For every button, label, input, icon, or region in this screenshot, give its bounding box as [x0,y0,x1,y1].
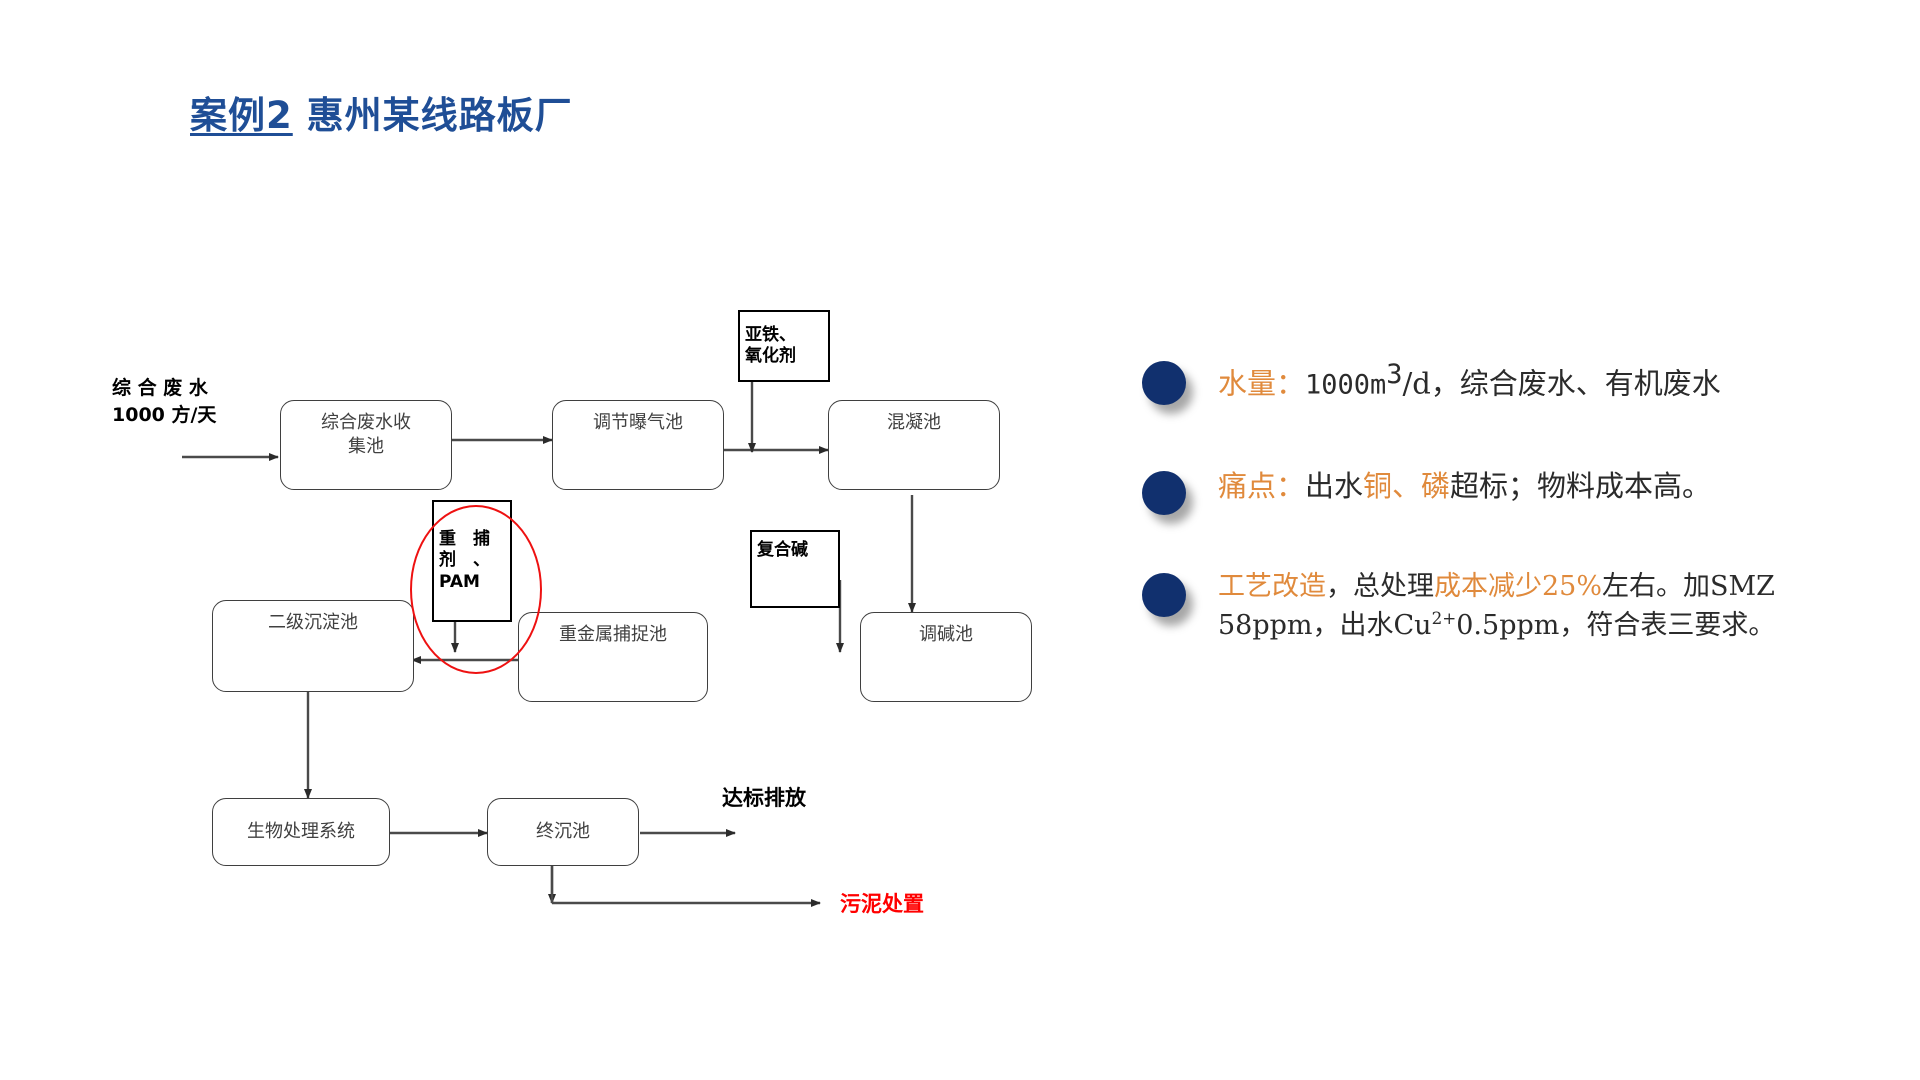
bullet-3-seg-0: 工艺改造 [1218,571,1326,602]
bullet-dot-icon [1142,573,1186,617]
bullet-1-seg-0: 水量： [1218,367,1305,401]
bullet-dot-icon [1142,471,1186,515]
bullet-1-seg-1: 1000m [1305,370,1386,401]
bullet-water-volume: 水量：1000m3/d，综合废水、有机废水 [1130,355,1890,405]
bullet-pain-point: 痛点：出水铜、磷超标；物料成本高。 [1130,465,1890,507]
bullet-process-upgrade-text: 工艺改造，总处理成本减少25%左右。加SMZ 58ppm，出水Cu2+0.5pp… [1218,567,1890,645]
bullet-1-seg-2: 3 [1386,359,1402,390]
chem-box-compound-alkali[interactable]: 复合碱 [750,530,840,608]
bullet-3-seg-5: 0.5ppm，符合表三要求。 [1456,610,1775,641]
bullet-2-seg-1: 出水 [1305,469,1363,503]
bullet-1-seg-3: /d，综合废水、有机废水 [1402,367,1720,401]
bullet-3-seg-4: 2+ [1432,608,1457,628]
node-heavy-metal-capture-pool[interactable]: 重金属捕捉池 [518,612,708,702]
node-alkali-adjust-pool[interactable]: 调碱池 [860,612,1032,702]
bullet-process-upgrade: 工艺改造，总处理成本减少25%左右。加SMZ 58ppm，出水Cu2+0.5pp… [1130,567,1890,645]
bullet-dot-icon [1142,361,1186,405]
bullet-3-seg-2: 成本减少25% [1434,571,1602,602]
output-label-compliant-discharge: 达标排放 [722,782,806,812]
diagram-connectors [0,0,1080,1080]
bullet-2-seg-3: 超标；物料成本高。 [1450,469,1711,503]
bullet-water-volume-text: 水量：1000m3/d，综合废水、有机废水 [1218,355,1890,405]
node-adjust-aeration-pool[interactable]: 调节曝气池 [552,400,724,490]
node-bio-treatment-system[interactable]: 生物处理系统 [212,798,390,866]
output-label-sludge-disposal: 污泥处置 [840,888,924,918]
summary-bullet-list: 水量：1000m3/d，综合废水、有机废水 痛点：出水铜、磷超标；物料成本高。 … [1130,355,1890,705]
node-coagulation-pool[interactable]: 混凝池 [828,400,1000,490]
bullet-2-seg-2: 铜、磷 [1363,469,1450,503]
node-secondary-sedimentation-pool[interactable]: 二级沉淀池 [212,600,414,692]
bullet-2-seg-0: 痛点： [1218,469,1305,503]
bullet-3-seg-1: ，总处理 [1326,571,1434,602]
node-comprehensive-collection-pool[interactable]: 综合废水收 集池 [280,400,452,490]
inlet-label: 综 合 废 水 1000 方/天 [112,375,216,428]
node-final-sedimentation-pool[interactable]: 终沉池 [487,798,639,866]
bullet-pain-point-text: 痛点：出水铜、磷超标；物料成本高。 [1218,465,1890,507]
slide-root: 案例2 惠州某线路板厂 [0,0,1920,1080]
chem-box-ferrous-oxidant[interactable]: 亚铁、 氧化剂 [738,310,830,382]
chem-box-heavy-metal-capturer-pam[interactable]: 重 捕 剂 、 PAM [432,500,512,622]
process-flow-diagram: 综 合 废 水 1000 方/天 综合废水收 集池 调节曝气池 混凝池 调碱池 … [0,0,1080,1080]
